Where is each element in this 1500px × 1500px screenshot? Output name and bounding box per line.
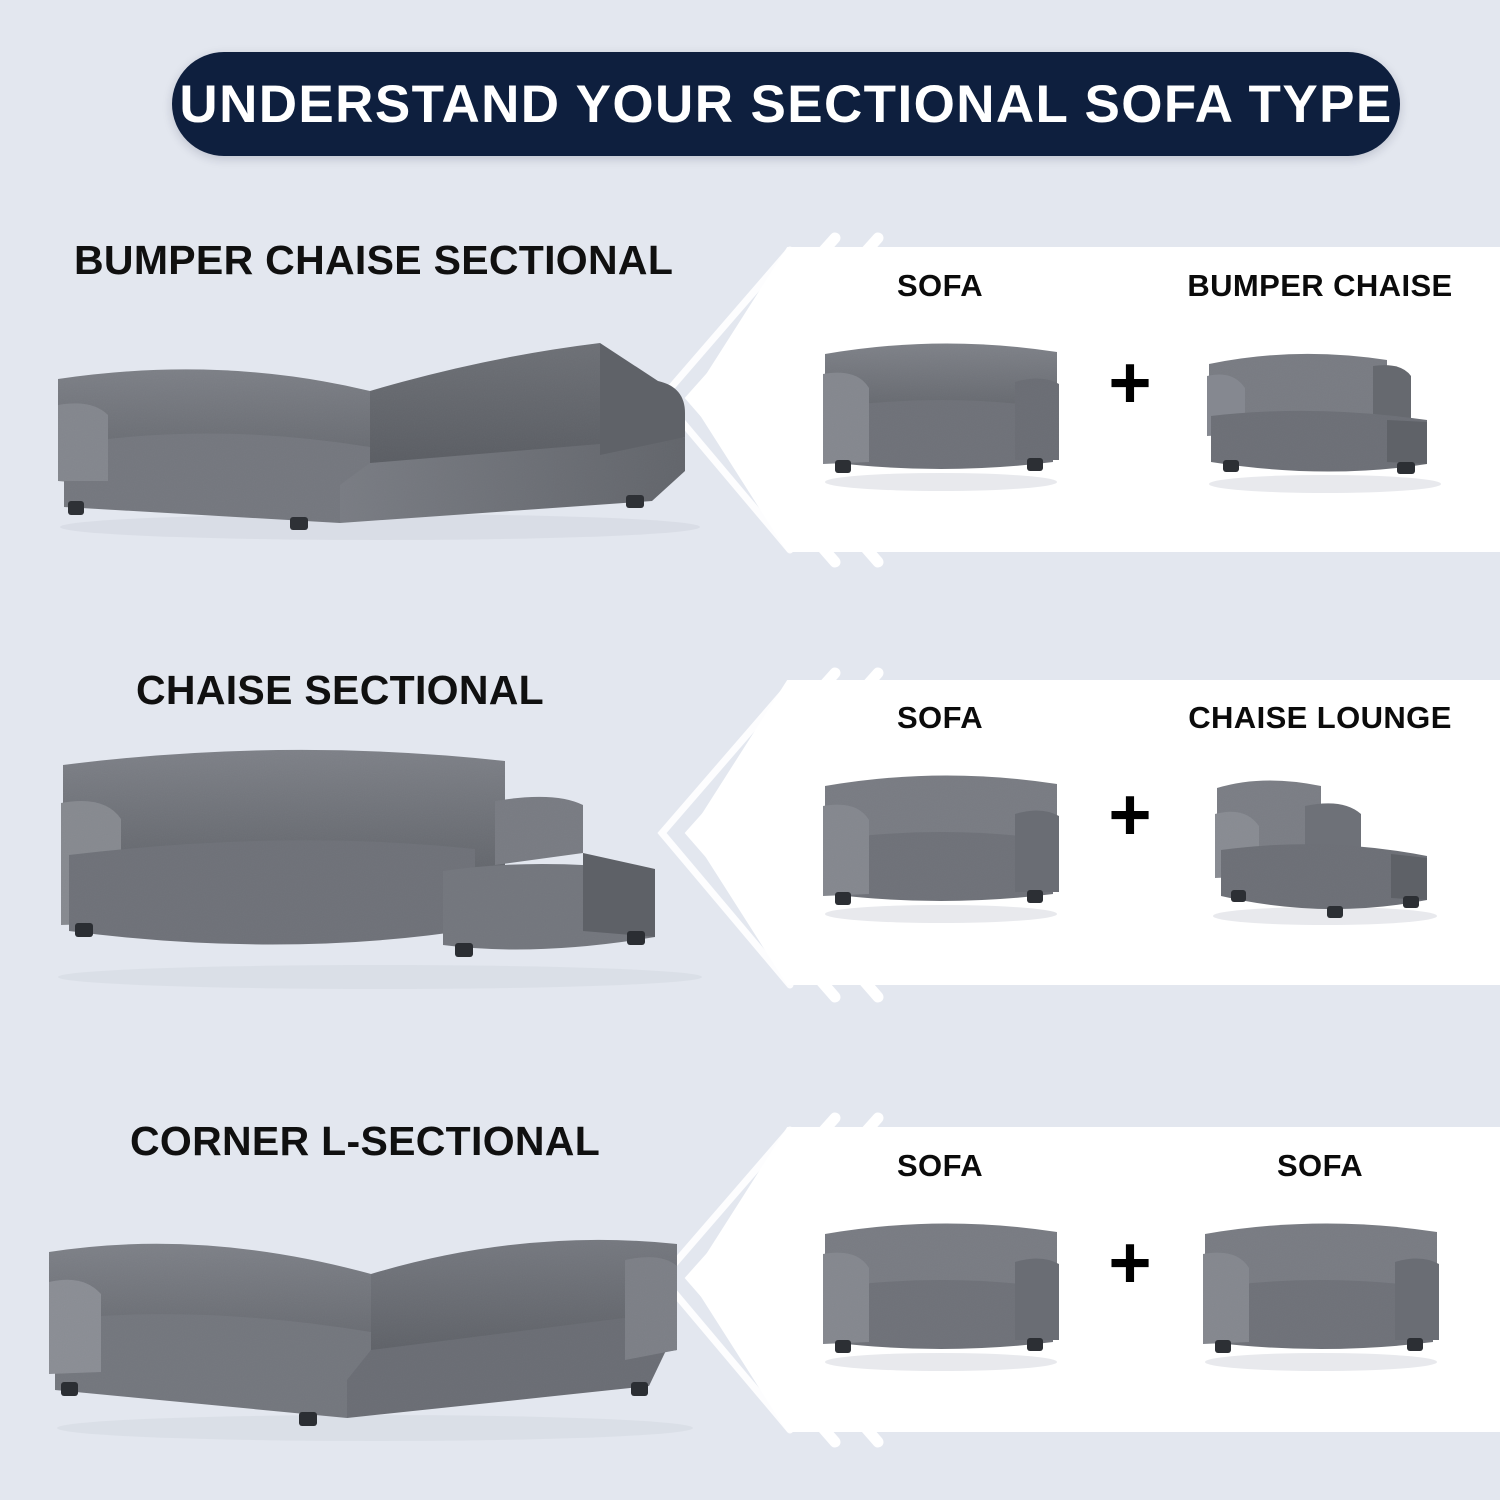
sofa-illustration <box>1175 1192 1465 1382</box>
section-heading: BUMPER CHAISE SECTIONAL <box>74 237 673 284</box>
chaise-lounge-icon <box>1175 744 1465 934</box>
component-label: SOFA <box>897 1148 983 1184</box>
chaise-lounge-illustration <box>1175 744 1465 934</box>
bumper-chaise-sectional-sofa-illustration <box>40 295 720 545</box>
component-sofa-left: SOFA <box>790 1148 1090 1382</box>
plus-operator-icon: + <box>1090 1148 1170 1378</box>
component-sofa: SOFA <box>790 268 1090 502</box>
sofa-icon <box>795 744 1085 934</box>
bumper-chaise-sectional-sofa-icon <box>40 295 720 545</box>
sofa-illustration <box>795 1192 1085 1382</box>
plus-operator-icon: + <box>1090 700 1170 930</box>
sofa-icon <box>795 1192 1085 1382</box>
section-heading: CORNER L-SECTIONAL <box>130 1118 600 1165</box>
component-label: SOFA <box>1277 1148 1363 1184</box>
sofa-icon <box>795 312 1085 502</box>
corner-l-sectional-sofa-icon <box>35 1190 715 1450</box>
bumper-chaise-illustration <box>1175 312 1465 502</box>
section-chaise-sectional: CHAISE SECTIONAL <box>0 650 1500 1050</box>
component-label: SOFA <box>897 268 983 304</box>
corner-l-sectional-sofa-illustration <box>35 1190 715 1450</box>
bumper-chaise-icon <box>1175 312 1465 502</box>
component-sofa: SOFA <box>790 700 1090 934</box>
chaise-sectional-sofa-illustration <box>35 725 725 995</box>
plus-operator-icon: + <box>1090 268 1170 498</box>
page-title-banner: UNDERSTAND YOUR SECTIONAL SOFA TYPE <box>172 52 1400 156</box>
sofa-icon <box>1175 1192 1465 1382</box>
chaise-sectional-sofa-icon <box>35 725 725 995</box>
component-label: SOFA <box>897 700 983 736</box>
sofa-illustration <box>795 312 1085 502</box>
section-heading: CHAISE SECTIONAL <box>136 667 544 714</box>
page-title: UNDERSTAND YOUR SECTIONAL SOFA TYPE <box>179 74 1392 135</box>
component-chaise-lounge: CHAISE LOUNGE <box>1170 700 1470 934</box>
section-bumper-chaise-sectional: BUMPER CHAISE SECTIONAL <box>0 210 1500 610</box>
components-row: SOFA <box>760 268 1500 538</box>
component-label: BUMPER CHAISE <box>1187 268 1452 304</box>
components-row: SOFA <box>760 700 1500 970</box>
component-sofa-right: SOFA <box>1170 1148 1470 1382</box>
section-corner-l-sectional: CORNER L-SECTIONAL <box>0 1100 1500 1500</box>
component-bumper-chaise: BUMPER CHAISE <box>1170 268 1470 502</box>
component-label: CHAISE LOUNGE <box>1188 700 1452 736</box>
sofa-illustration <box>795 744 1085 934</box>
components-row: SOFA <box>760 1148 1500 1418</box>
